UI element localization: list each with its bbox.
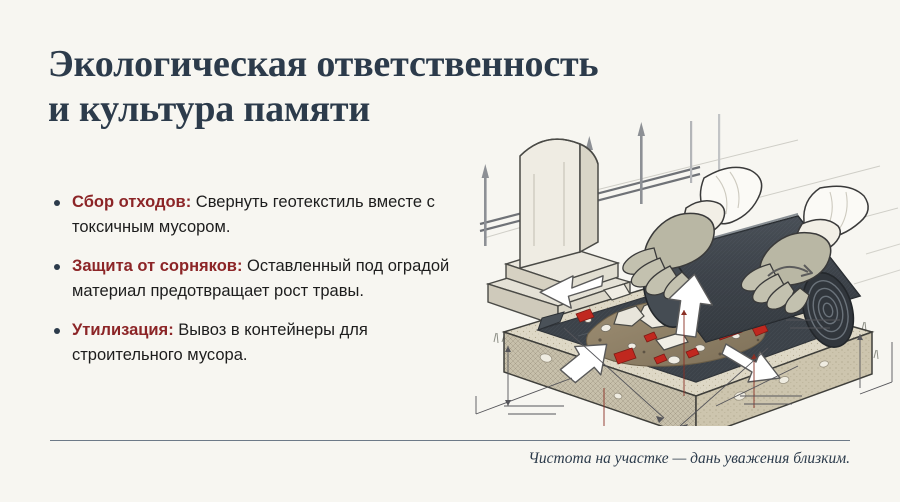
footer-divider xyxy=(50,440,850,441)
bullet-dot-icon xyxy=(54,264,60,270)
title-line-1: Экологическая ответственность xyxy=(48,42,748,87)
bullet-label: Сбор отходов: xyxy=(72,193,191,211)
list-item: Защита от сорняков: Оставленный под огра… xyxy=(50,254,460,304)
bullet-label: Защита от сорняков: xyxy=(72,257,242,275)
list-item: Утилизация: Вывоз в контейнеры для строи… xyxy=(50,318,460,368)
bullet-label: Утилизация: xyxy=(72,321,174,339)
footer-caption: Чистота на участке — дань уважения близк… xyxy=(528,450,850,468)
list-item: Сбор отходов: Свернуть геотекстиль вмест… xyxy=(50,190,460,240)
illustration-geotextile-removal xyxy=(468,96,900,426)
slide-canvas: Экологическая ответственность и культура… xyxy=(0,0,900,502)
bullet-dot-icon xyxy=(54,200,60,206)
bullet-dot-icon xyxy=(54,328,60,334)
bullet-list: Сбор отходов: Свернуть геотекстиль вмест… xyxy=(50,190,460,368)
